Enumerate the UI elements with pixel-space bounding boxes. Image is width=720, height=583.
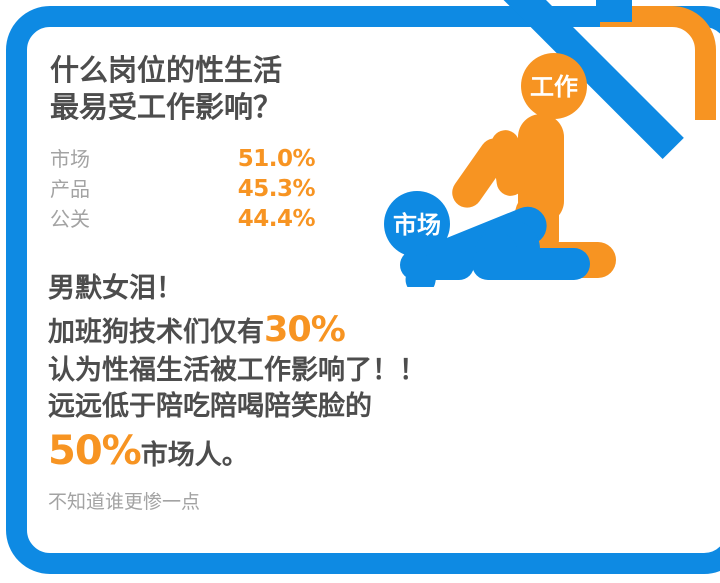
footnote-text: 不知道谁更惨一点 [48,487,200,514]
stats-table: 市场 51.0% 产品 45.3% 公关 44.4% [50,143,315,233]
body-line-5: 50%市场人。 [48,425,518,478]
stat-label: 产品 [50,173,90,202]
infographic-poster: 什么岗位的性生活 最易受工作影响？ 市场 51.0% 产品 45.3% 公关 4… [0,0,720,583]
stat-label: 市场 [50,143,90,172]
badge-work: 工作 [521,53,587,119]
highlight-30-percent: 30% [264,310,345,350]
table-row: 市场 51.0% [50,143,315,173]
page-title-line-2: 最易受工作影响？ [50,89,380,126]
table-row: 产品 45.3% [50,173,315,203]
badge-market: 市场 [384,191,450,257]
page-title: 什么岗位的性生活 最易受工作影响？ [50,52,380,126]
body-line-4: 远远低于陪吃陪喝陪笑脸的 [48,389,518,425]
stick-figure-illustration: 工作 市场 [378,52,633,287]
poster-content: 什么岗位的性生活 最易受工作影响？ 市场 51.0% 产品 45.3% 公关 4… [0,0,720,583]
stat-value: 44.4% [238,206,315,232]
body-line-2: 加班狗技术们仅有30% [48,307,518,354]
badge-market-label: 市场 [393,211,441,239]
table-row: 公关 44.4% [50,203,315,233]
stat-label: 公关 [50,203,90,232]
highlight-50-percent: 50% [48,428,141,474]
body-copy: 男默女泪！ 加班狗技术们仅有30% 认为性福生活被工作影响了！！ 远远低于陪吃陪… [48,271,518,478]
page-title-line-1: 什么岗位的性生活 [50,52,380,89]
stat-value: 51.0% [238,146,315,172]
body-line-5-text: 市场人。 [141,440,249,471]
stat-value: 45.3% [238,176,315,202]
badge-work-label: 工作 [530,73,578,101]
body-line-3: 认为性福生活被工作影响了！！ [48,353,518,389]
body-line-2-text: 加班狗技术们仅有 [48,317,264,348]
blue-shin [472,248,590,280]
